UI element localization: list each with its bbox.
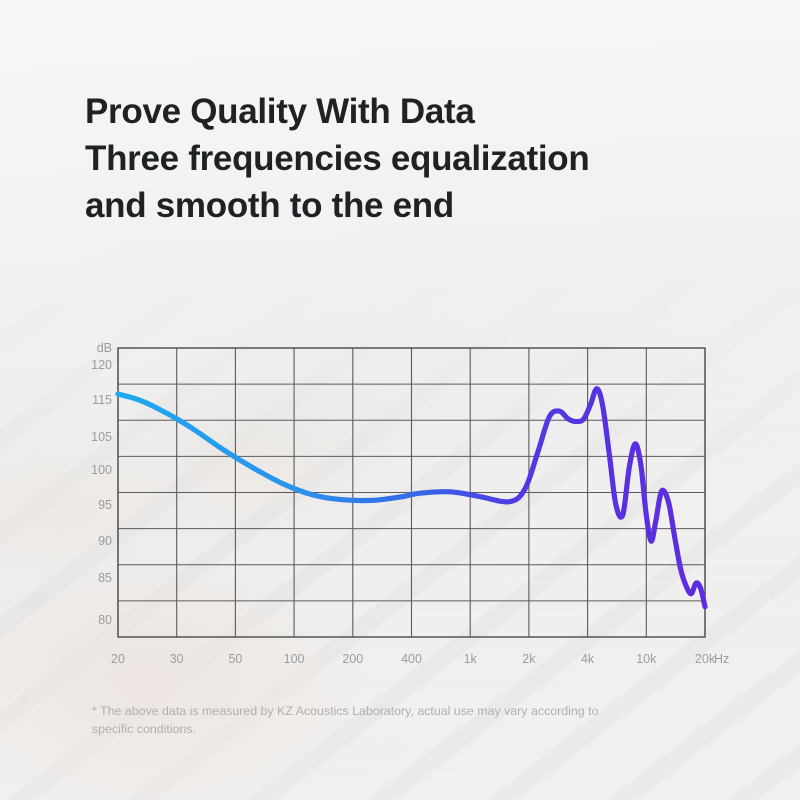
x-axis-tick-label: 4k (581, 652, 595, 666)
x-axis-unit-label: Hz (714, 652, 729, 666)
y-axis-tick-label: 90 (98, 534, 112, 548)
footnote-disclaimer: * The above data is measured by KZ Acous… (92, 703, 632, 738)
y-axis-unit-label: dB (97, 341, 112, 355)
y-axis-tick-label: 105 (91, 430, 112, 444)
y-axis-tick-label: 85 (98, 571, 112, 585)
x-axis-tick-label: 100 (284, 652, 305, 666)
footnote-line-1: * The above data is measured by KZ Acous… (92, 704, 528, 718)
x-axis-tick-label: 20k (695, 652, 716, 666)
x-axis-tick-label: 20 (111, 652, 125, 666)
x-axis-ticklabels: 2030501002004001k2k4k10k20k (111, 652, 716, 666)
x-axis-tick-label: 50 (228, 652, 242, 666)
y-axis-tick-label: 115 (92, 393, 112, 407)
x-axis-tick-label: 30 (170, 652, 184, 666)
y-axis-tick-label: 80 (98, 613, 112, 627)
y-axis-tick-label: 120 (91, 358, 112, 372)
frequency-response-chart: 12011510510095908580 2030501002004001k2k… (0, 0, 800, 800)
x-axis-tick-label: 10k (636, 652, 657, 666)
y-axis-tick-label: 95 (98, 498, 112, 512)
chart-svg: 12011510510095908580 2030501002004001k2k… (0, 0, 800, 800)
y-axis-ticklabels: 12011510510095908580 (91, 358, 112, 627)
y-axis-tick-label: 100 (91, 463, 112, 477)
x-axis-tick-label: 200 (342, 652, 363, 666)
x-axis-tick-label: 1k (464, 652, 478, 666)
x-axis-tick-label: 2k (522, 652, 536, 666)
x-axis-tick-label: 400 (401, 652, 422, 666)
